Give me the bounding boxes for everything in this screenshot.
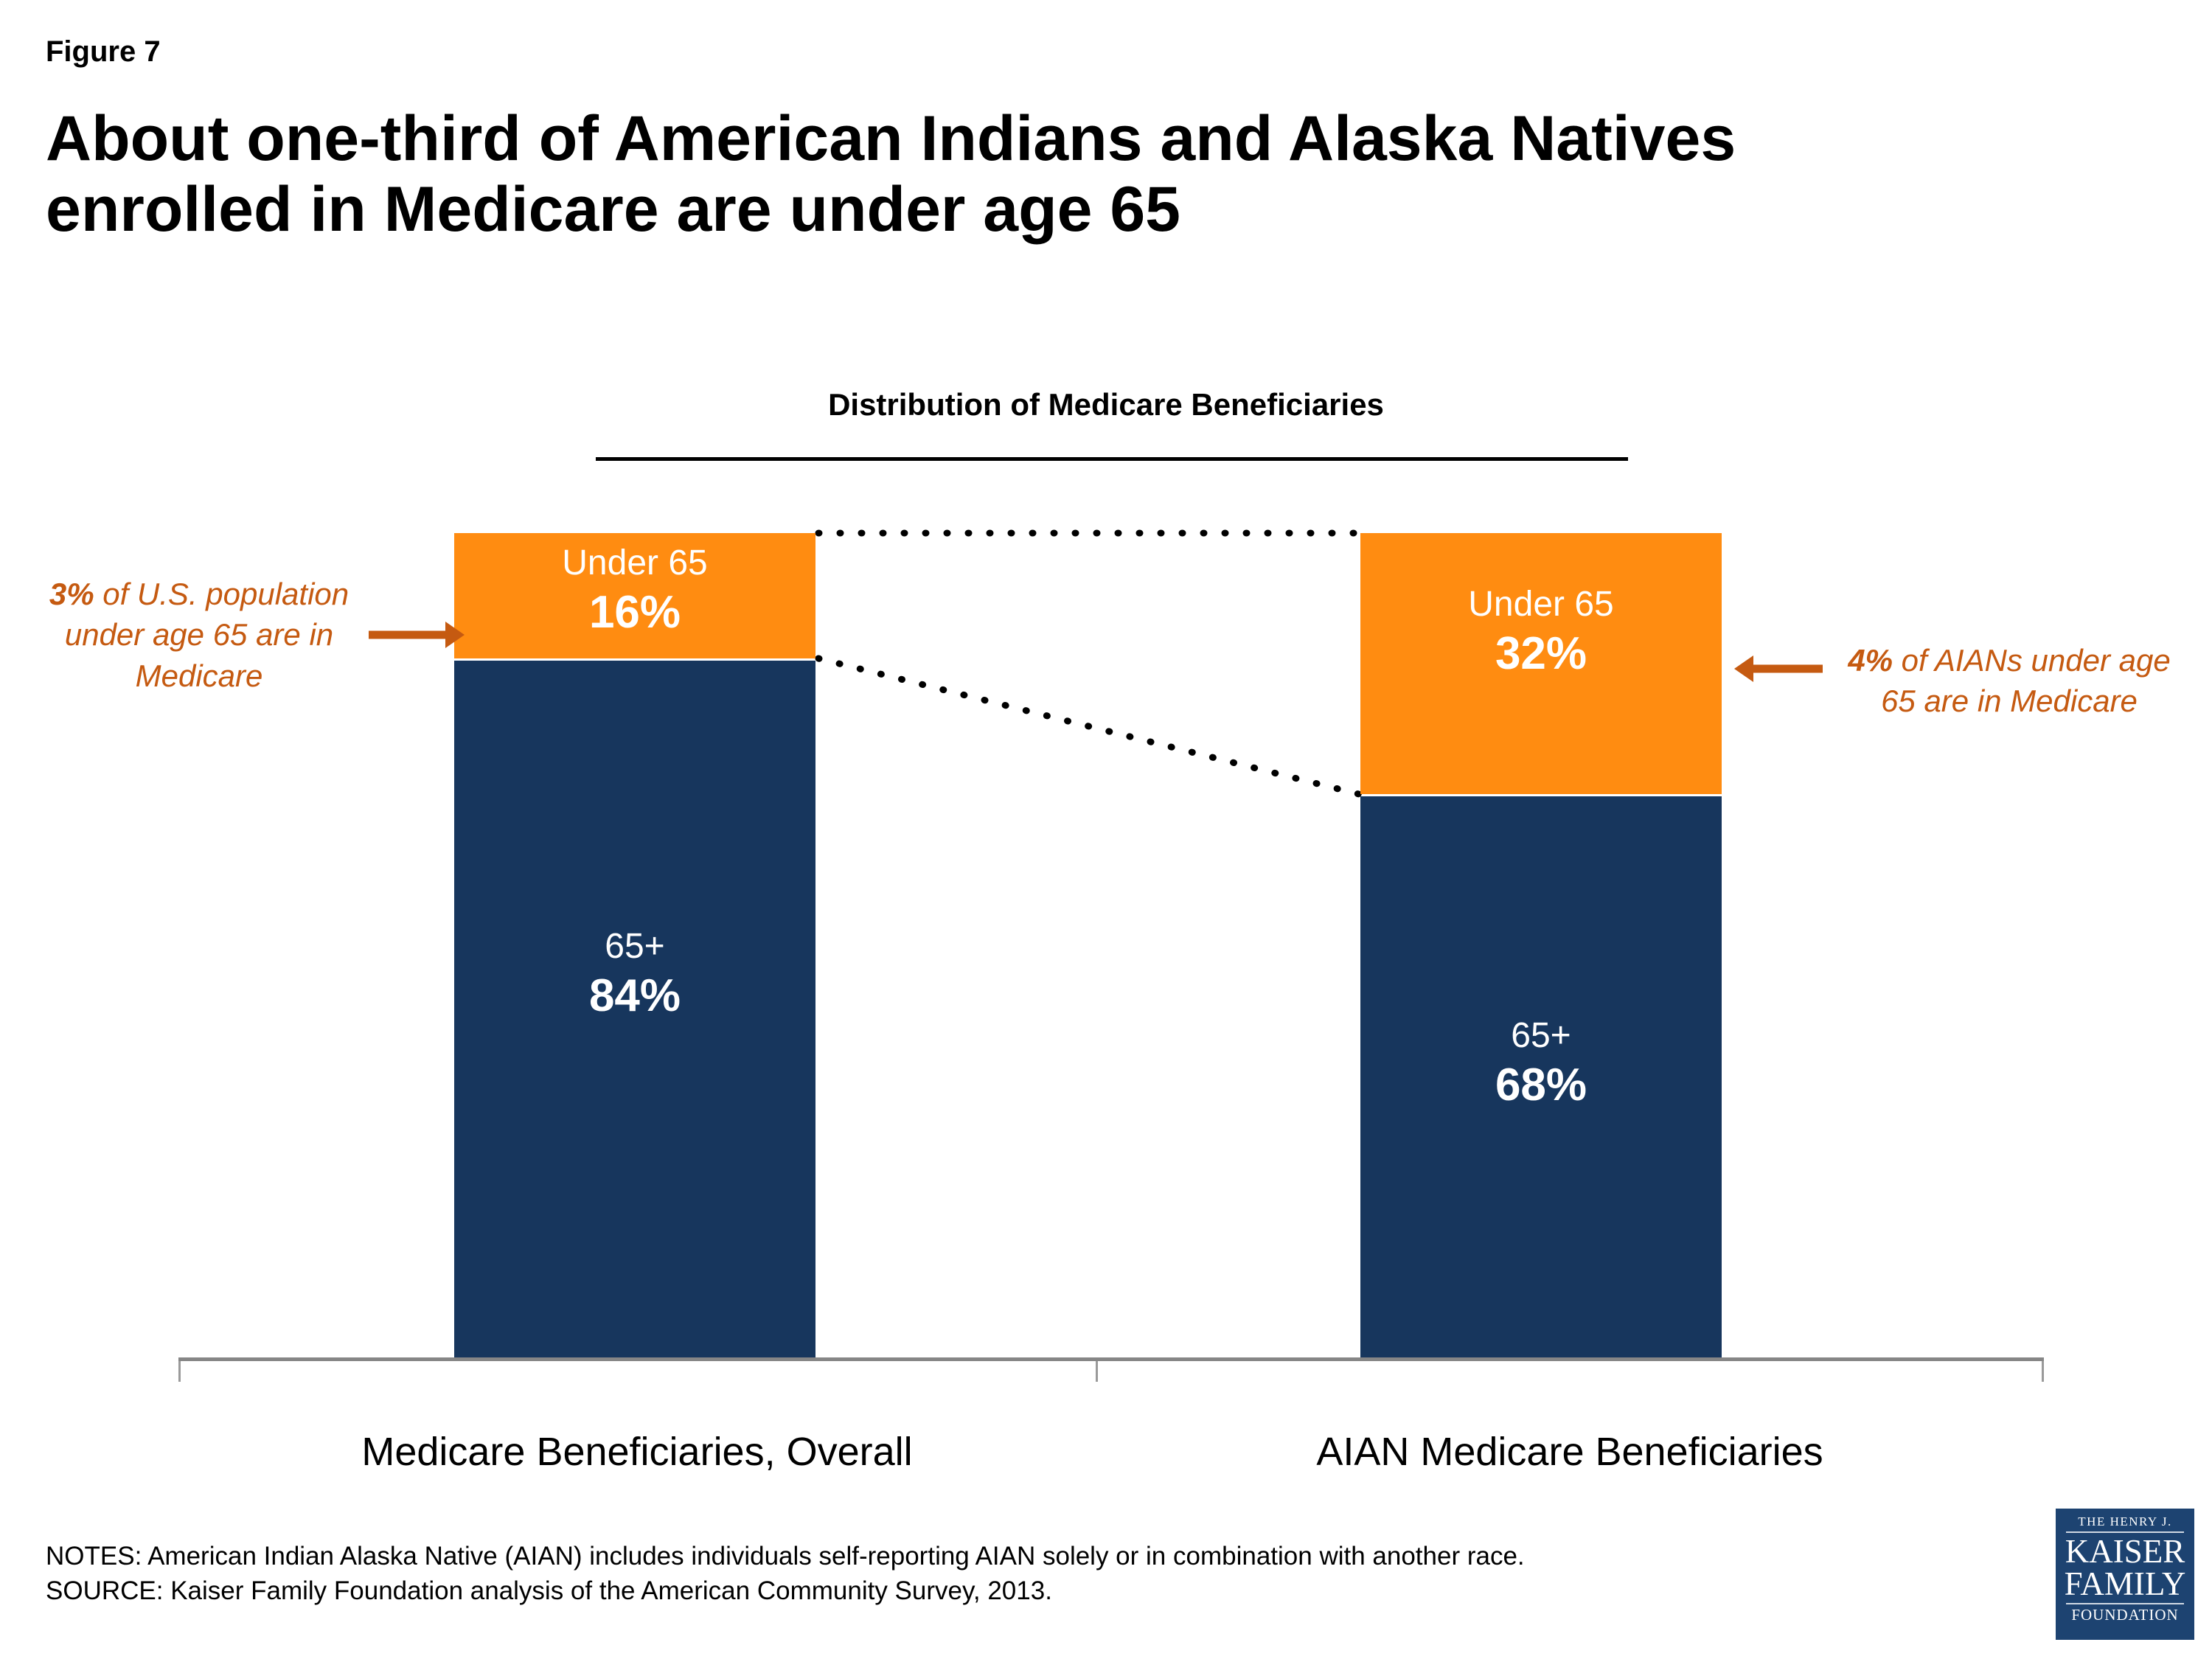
- kff-logo-line-1: THE HENRY J.: [2063, 1515, 2187, 1528]
- x-axis-label-medicare-overall: Medicare Beneficiaries, Overall: [178, 1429, 1096, 1475]
- bar-1-segment-65-plus[interactable]: 65+ 84%: [454, 661, 815, 1358]
- page-title-line-1: About one-third of American Indians and …: [46, 103, 2110, 174]
- bar-1-under-65-value: 16%: [454, 586, 815, 639]
- kff-logo-line-2: KAISER: [2063, 1535, 2187, 1568]
- bar-1-65-plus-value: 84%: [454, 970, 815, 1022]
- callout-right-text: of AIANs under age 65 are in Medicare: [1881, 643, 2171, 718]
- x-axis-line: [178, 1357, 2044, 1361]
- arrow-left-icon: [1734, 652, 1823, 686]
- x-axis-label-aian: AIAN Medicare Beneficiaries: [1096, 1429, 2044, 1475]
- callout-right: 4% of AIANs under age 65 are in Medicare: [1829, 640, 2190, 722]
- chart-connectors: [0, 0, 2212, 1659]
- footer-source-line: SOURCE: Kaiser Family Foundation analysi…: [46, 1574, 2022, 1609]
- x-axis-tick-start: [178, 1361, 181, 1382]
- kff-logo-rule-bottom: [2066, 1603, 2184, 1604]
- page-title: About one-third of American Indians and …: [46, 103, 2110, 246]
- figure-number: Figure 7: [46, 35, 161, 69]
- x-axis-tick-end: [2042, 1361, 2044, 1382]
- bar-2-segment-under-65[interactable]: Under 65 32%: [1360, 533, 1722, 794]
- bar-1-65-plus-name: 65+: [454, 928, 815, 965]
- callout-left-text: of U.S. population under age 65 are in M…: [65, 577, 349, 693]
- x-axis-tick-middle: [1096, 1361, 1098, 1382]
- page-title-line-2: enrolled in Medicare are under age 65: [46, 174, 2110, 245]
- bar-2-65-plus-value: 68%: [1360, 1059, 1722, 1111]
- bar-1-under-65-name: Under 65: [454, 545, 815, 582]
- chart-subtitle-rule: [596, 457, 1628, 461]
- callout-left: 3% of U.S. population under age 65 are i…: [22, 574, 376, 696]
- bar-2-under-65-value: 32%: [1360, 627, 1722, 680]
- footer-notes: NOTES: American Indian Alaska Native (AI…: [46, 1540, 2022, 1608]
- figure-slide: Figure 7 About one-third of American Ind…: [0, 0, 2212, 1659]
- footer-notes-line: NOTES: American Indian Alaska Native (AI…: [46, 1540, 2022, 1574]
- kff-logo-line-4: FOUNDATION: [2063, 1607, 2187, 1623]
- bar-1-segment-under-65[interactable]: Under 65 16%: [454, 533, 815, 658]
- kff-logo: THE HENRY J. KAISER FAMILY FOUNDATION: [2056, 1509, 2194, 1640]
- arrow-right-icon: [369, 618, 465, 652]
- bar-2-65-plus-name: 65+: [1360, 1018, 1722, 1054]
- callout-right-emphasis: 4%: [1848, 643, 1893, 678]
- bar-2-segment-65-plus[interactable]: 65+ 68%: [1360, 796, 1722, 1358]
- callout-left-emphasis: 3%: [49, 577, 94, 611]
- bar-2-under-65-name: Under 65: [1360, 586, 1722, 623]
- connector-diagonal-dotted: [818, 658, 1359, 794]
- chart-subtitle: Distribution of Medicare Beneficiaries: [590, 387, 1622, 422]
- kff-logo-line-3: FAMILY: [2063, 1568, 2187, 1600]
